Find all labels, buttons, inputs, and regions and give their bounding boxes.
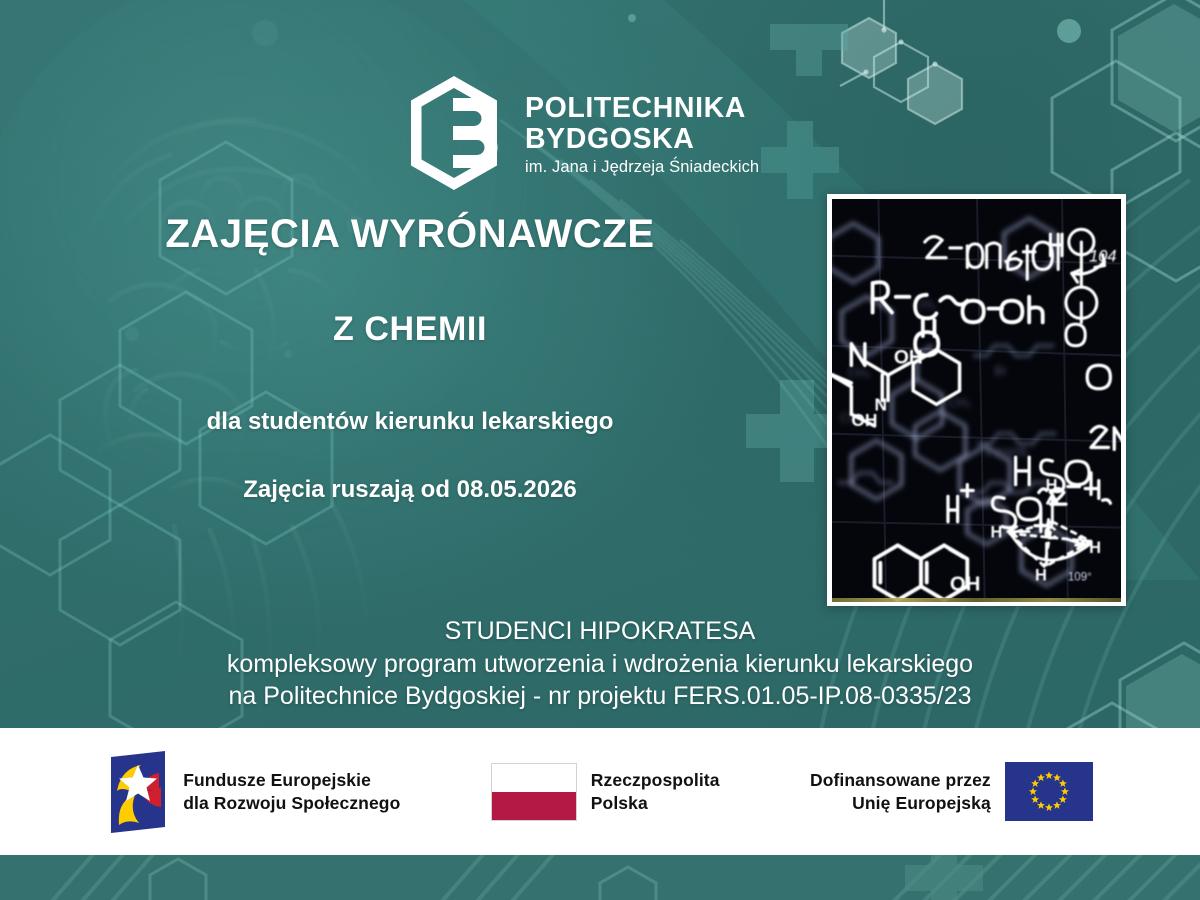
fundusze-europejskie-logo [107,751,169,833]
logo-line-1: POLITECHNIKA [525,94,759,123]
rp-text-line-2: Polska [591,792,720,814]
fe-text-line-1: Fundusze Europejskie [183,769,400,791]
project-line-1: STUDENCI HIPOKRATESA [0,615,1200,648]
footer-item-rzeczpospolita-polska: Rzeczpospolita Polska [491,763,720,821]
svg-text:C: C [1044,522,1057,543]
svg-text:Br: Br [994,364,1007,378]
headline-primary: ZAJĘCIA WYRÓNAWCZE [0,212,820,257]
university-logo: POLITECHNIKA BYDGOSKA im. Jana i Jędrzej… [405,74,759,192]
rp-text-line-1: Rzeczpospolita [591,769,720,791]
project-description: STUDENCI HIPOKRATESA kompleksowy program… [0,615,1200,713]
svg-text:H: H [1089,538,1101,557]
poland-flag-red-band [492,792,576,820]
footer-item-dofinansowane-przez-ue: Dofinansowane przez Unię Europejską [810,762,1093,821]
project-line-2: kompleksowy program utworzenia i wdrożen… [0,648,1200,681]
svg-text:104: 104 [1089,247,1116,266]
photo-bottom-strip [832,598,1121,602]
poland-flag-white-band [492,764,576,792]
fe-text-line-2: dla Rozwoju Społecznego [183,792,400,814]
headline-secondary: Z CHEMII [0,310,820,349]
chemistry-photo-frame: CH₃ CH₂ Br CH₃ CH₃ 2 mg/dL Br [827,194,1126,606]
svg-text:OH: OH [894,346,923,368]
poster-canvas: POLITECHNIKA BYDGOSKA im. Jana i Jędrzej… [0,0,1200,900]
svg-text:2 mg/dL: 2 mg/dL [985,444,1030,458]
bottom-teal-strip [0,855,1200,900]
svg-text:H: H [1035,565,1047,584]
project-line-3: na Politechnice Bydgoskiej - nr projektu… [0,680,1200,713]
bottom-strip-pattern [0,855,1200,900]
svg-text:OH: OH [950,573,980,595]
svg-text:109°: 109° [1068,570,1092,583]
fundusze-europejskie-text: Fundusze Europejskie dla Rozwoju Społecz… [183,769,400,814]
svg-text:CH₃: CH₃ [847,366,870,380]
chemistry-photo-content: CH₃ CH₂ Br CH₃ CH₃ 2 mg/dL Br [832,199,1121,602]
svg-text:H: H [991,522,1003,541]
poland-flag [491,763,577,821]
european-union-flag [1005,762,1093,821]
chemistry-photo: CH₃ CH₂ Br CH₃ CH₃ 2 mg/dL Br [832,199,1121,602]
logo-line-3: im. Jana i Jędrzeja Śniadeckich [525,159,759,176]
ue-text-line-2: Unię Europejską [810,792,991,814]
rzeczpospolita-polska-text: Rzeczpospolita Polska [591,769,720,814]
politechnika-bydgoska-hex-b-logo-icon [405,74,511,192]
headline-start-date: Zajęcia ruszają od 08.05.2026 [0,476,820,504]
eu-funding-footer: Fundusze Europejskie dla Rozwoju Społecz… [0,728,1200,855]
headline-audience: dla studentów kierunku lekarskiego [0,408,820,436]
logo-line-2: BYDGOSKA [525,125,759,154]
footer-item-fundusze-europejskie: Fundusze Europejskie dla Rozwoju Społecz… [107,751,400,833]
ue-text-line-1: Dofinansowane przez [810,769,991,791]
svg-text:H: H [1046,475,1058,494]
dofinansowane-text: Dofinansowane przez Unię Europejską [810,769,991,814]
svg-text:OH: OH [851,410,877,430]
